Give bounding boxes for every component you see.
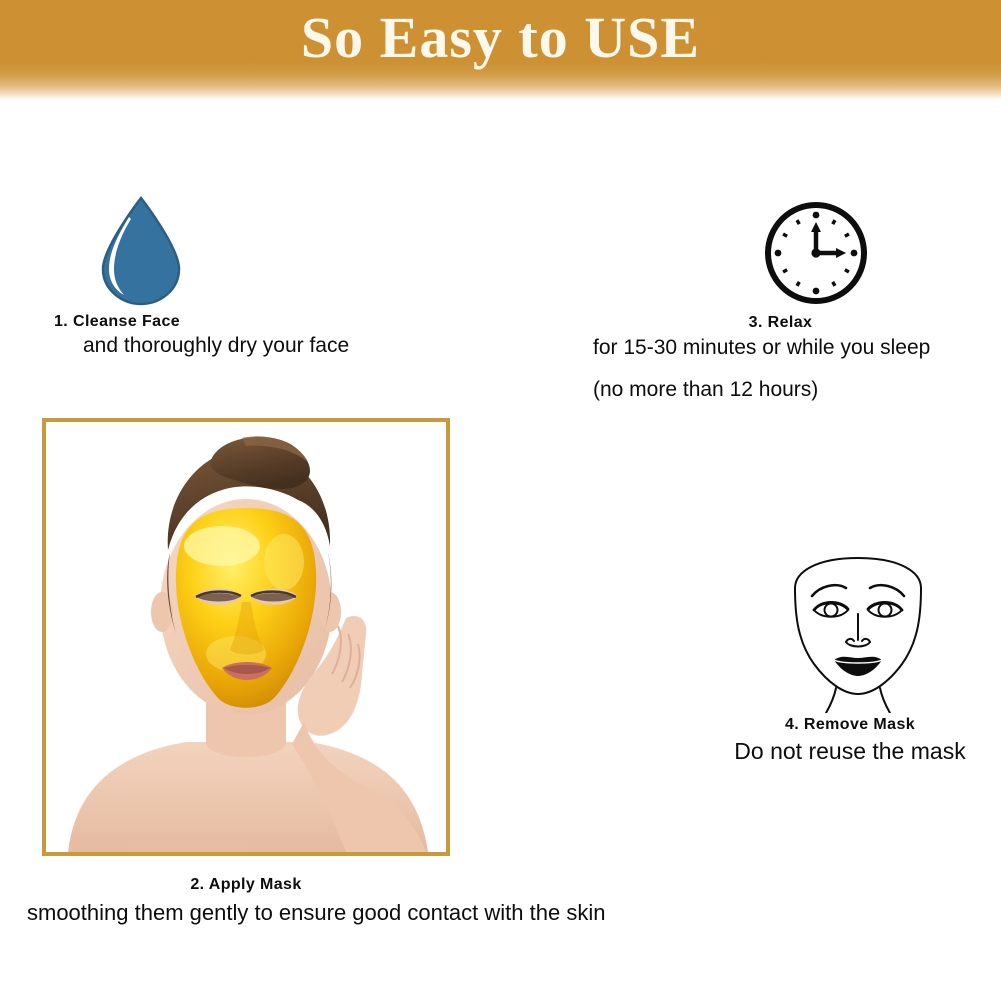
gold-face-mask-photo [46, 422, 446, 852]
step-1-heading: 1. Cleanse Face [54, 313, 180, 331]
step-3-body-line-1: for 15-30 minutes or while you sleep [593, 336, 930, 360]
woman-face-line-art-icon [768, 548, 948, 713]
step-3-body-line-2: (no more than 12 hours) [593, 378, 818, 402]
page-title: So Easy to USE [0, 4, 1001, 72]
water-droplet-icon [95, 195, 187, 307]
clock-icon [758, 198, 874, 308]
step-2-body: smoothing them gently to ensure good con… [27, 900, 605, 926]
apply-mask-photo-frame [42, 418, 450, 856]
step-2-heading: 2. Apply Mask [42, 876, 450, 894]
step-3-heading: 3. Relax [560, 314, 1001, 332]
header-banner: So Easy to USE [0, 0, 1001, 100]
step-4-body: Do not reuse the mask [700, 738, 1000, 765]
step-4-heading: 4. Remove Mask [700, 716, 1000, 734]
step-1-body: and thoroughly dry your face [83, 334, 349, 358]
